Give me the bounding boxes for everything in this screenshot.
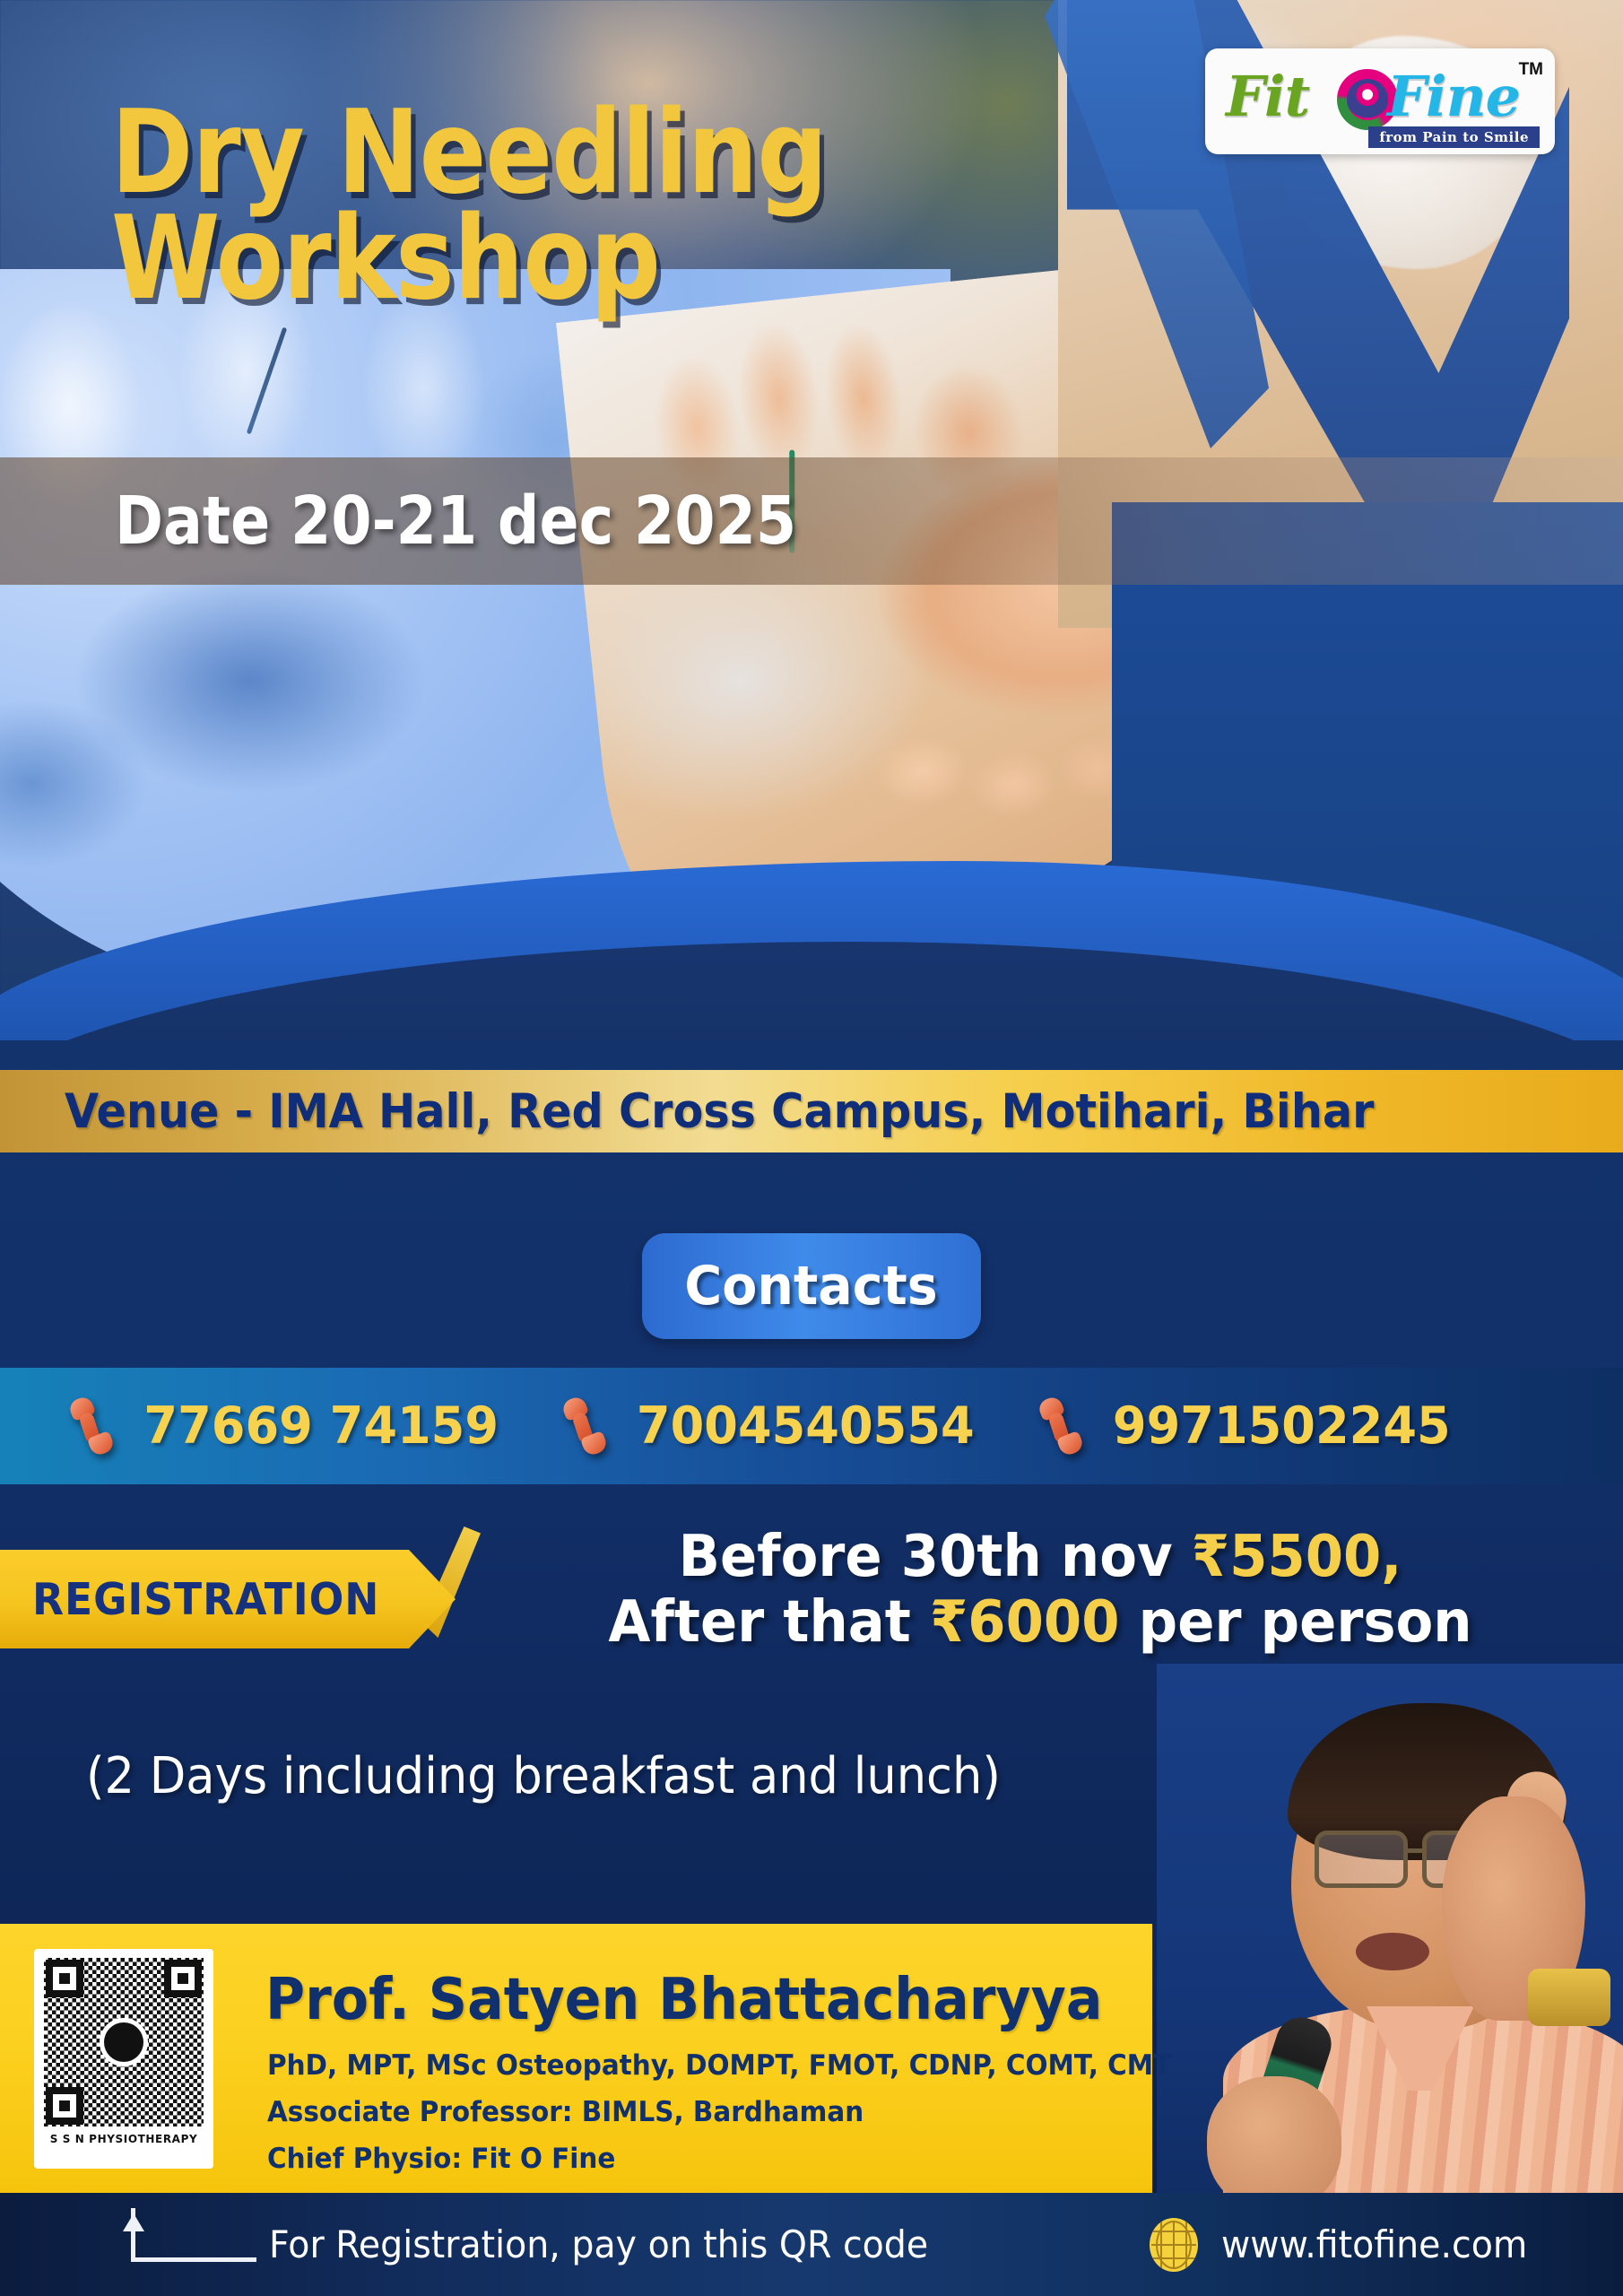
speaker-name: Prof. Satyen Bhattacharyya: [265, 1967, 1102, 2033]
price-amount-late: ₹6000: [930, 1589, 1120, 1656]
brand-logo: Fit Fine TM from Pain to Smile: [1205, 48, 1555, 154]
price-amount-early: ₹5500,: [1192, 1524, 1402, 1590]
logo-word-fit: Fit: [1226, 64, 1309, 129]
poster-root: Fit Fine TM from Pain to Smile Dry Needl…: [0, 0, 1623, 2296]
arrow-up-icon: [108, 2213, 260, 2276]
inclusions-note: (2 Days including breakfast and lunch): [86, 1747, 1001, 1805]
phone-icon: [68, 1398, 115, 1454]
contacts-heading-chip: Contacts: [642, 1233, 981, 1339]
logo-tagline: from Pain to Smile: [1368, 126, 1540, 148]
date-banner: Date 20-21 dec 2025: [0, 457, 1623, 585]
contact-number-3: 9971502245: [1113, 1396, 1451, 1456]
logo-word-fine: Fine: [1387, 64, 1520, 129]
globe-icon: [1150, 2218, 1198, 2272]
speaker-role: Chief Physio: Fit O Fine: [267, 2143, 615, 2175]
eyeglass-left-icon: [1315, 1831, 1408, 1888]
footer-website[interactable]: www.fitofine.com: [1221, 2222, 1527, 2266]
footer-registration-note: For Registration, pay on this QR code: [269, 2222, 928, 2266]
contact-item-1[interactable]: 77669 74159: [68, 1396, 508, 1456]
footer-bar: For Registration, pay on this QR code ww…: [0, 2193, 1623, 2296]
qr-finder-top-right: [164, 1960, 202, 1997]
venue-banner: Venue - IMA Hall, Red Cross Campus, Moti…: [0, 1070, 1623, 1152]
contact-number-1: 77669 74159: [143, 1396, 499, 1456]
contact-number-2: 7004540554: [637, 1396, 975, 1456]
venue-text: Venue - IMA Hall, Red Cross Campus, Moti…: [65, 1084, 1374, 1139]
speaker-credentials: PhD, MPT, MSc Osteopathy, DOMPT, FMOT, C…: [267, 2049, 1171, 2082]
speaker-mic-hand: [1207, 2076, 1341, 2211]
title-line-1: Dry Needling: [111, 100, 882, 206]
speaker-affiliation: Associate Professor: BIMLS, Bardhaman: [267, 2096, 864, 2128]
qr-finder-bottom-left: [46, 2087, 83, 2125]
speaker-mouth: [1356, 1933, 1429, 1970]
date-text: Date 20-21 dec 2025: [115, 483, 796, 560]
wristwatch-icon: [1528, 1969, 1610, 2026]
price-line-2-prefix: After that: [608, 1589, 930, 1656]
eyeglass-bridge: [1408, 1848, 1424, 1853]
speaker-info-card: S S N PHYSIOTHERAPY Prof. Satyen Bhattac…: [0, 1924, 1152, 2193]
trademark-icon: TM: [1519, 60, 1543, 80]
qr-code-pattern: [44, 1958, 204, 2126]
qr-code[interactable]: S S N PHYSIOTHERAPY: [34, 1949, 213, 2169]
contact-item-2[interactable]: 7004540554: [561, 1396, 984, 1456]
contacts-heading-label: Contacts: [685, 1255, 938, 1318]
phone-icon: [1037, 1398, 1084, 1454]
price-line-2: After that ₹6000 per person: [563, 1590, 1517, 1656]
poster-title: Dry Needling Workshop: [111, 100, 1008, 312]
registration-ribbon: REGISTRATION: [0, 1550, 456, 1648]
qr-finder-top-left: [46, 1960, 83, 1997]
price-line-1: Before 30th nov ₹5500,: [563, 1525, 1517, 1590]
speaker-portrait: [1157, 1664, 1623, 2220]
phone-numbers-strip: 77669 74159 7004540554 9971502245: [0, 1368, 1623, 1484]
qr-code-label: S S N PHYSIOTHERAPY: [50, 2133, 198, 2145]
price-line-1-prefix: Before 30th nov: [679, 1524, 1192, 1590]
title-line-2: Workshop: [111, 206, 882, 312]
registration-price-block: Before 30th nov ₹5500, After that ₹6000 …: [538, 1525, 1542, 1656]
contact-item-3[interactable]: 9971502245: [1037, 1396, 1460, 1456]
price-line-2-suffix: per person: [1120, 1589, 1472, 1656]
registration-ribbon-label: REGISTRATION: [32, 1574, 379, 1625]
phone-icon: [561, 1398, 608, 1454]
